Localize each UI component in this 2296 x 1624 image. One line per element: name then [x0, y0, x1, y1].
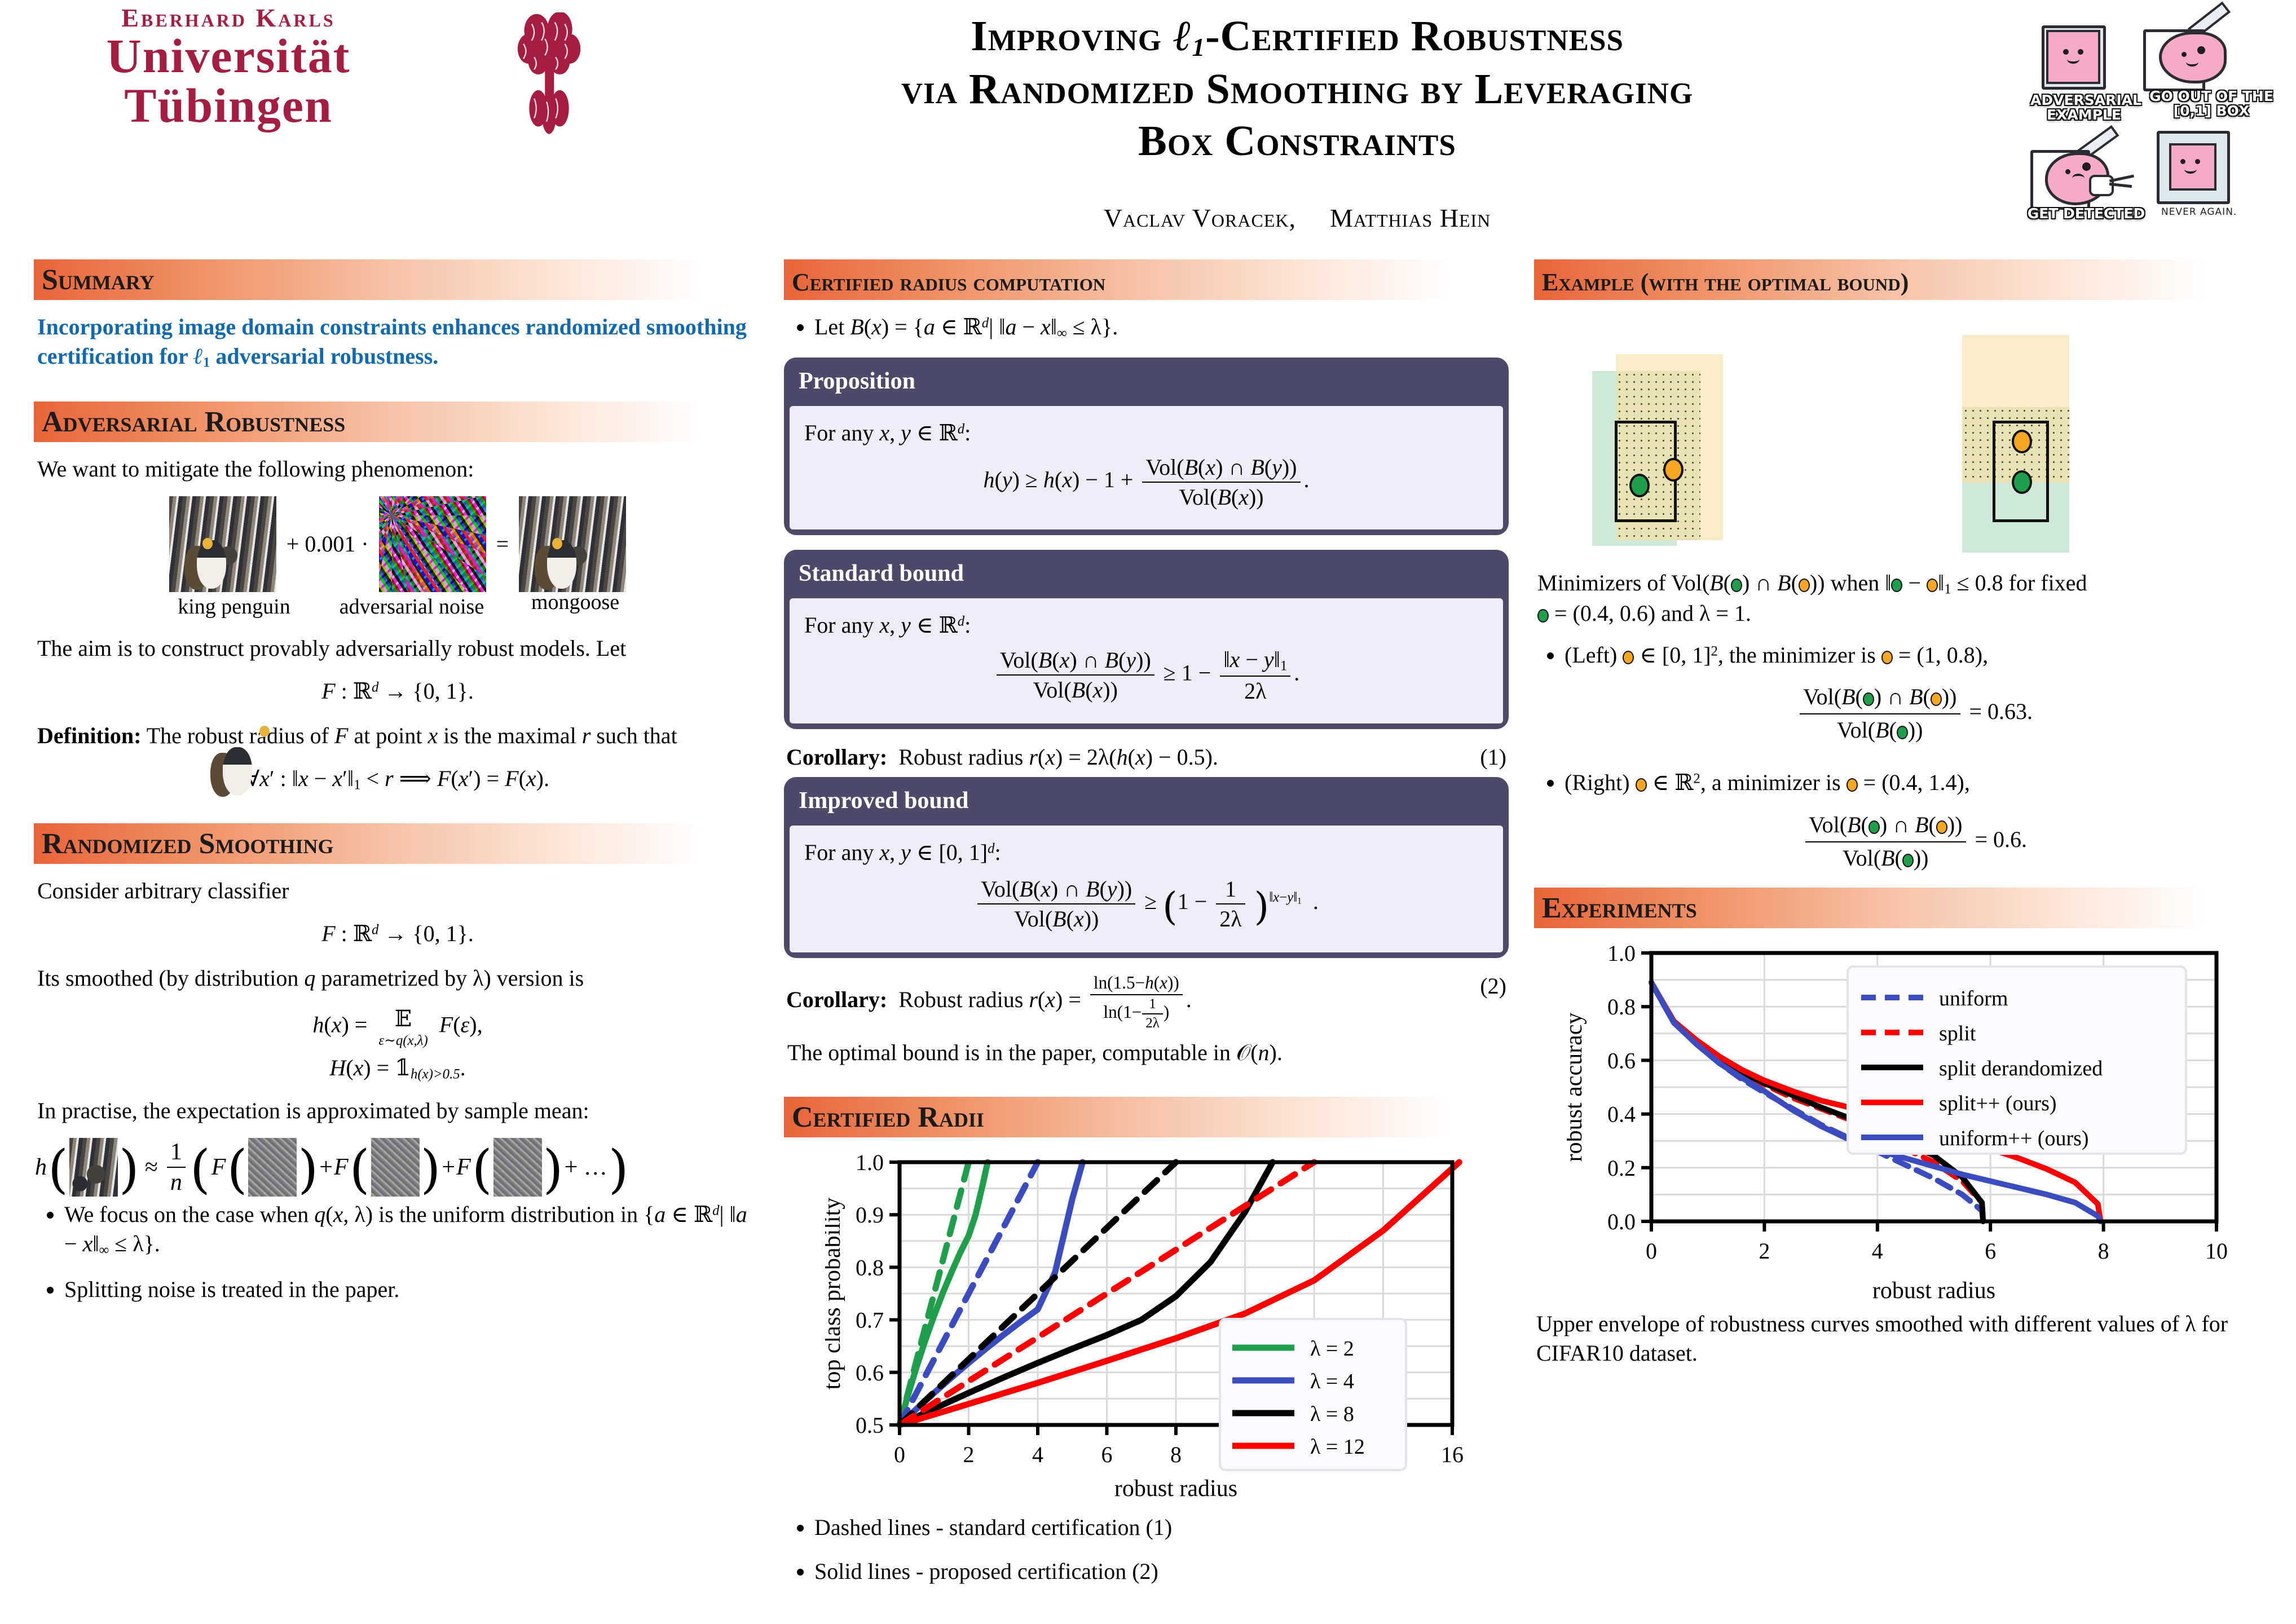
author-2: Matthias Hein [1330, 204, 1491, 232]
x-axis-label: robust radius [1872, 1278, 1995, 1301]
image-mongoose [519, 496, 626, 592]
example-panel-right [1919, 317, 2213, 554]
y-tick-label: 0.2 [1607, 1155, 1636, 1181]
theorem-box-proposition: Proposition For any x, y ∈ ℝd: h(y) ≥ h(… [784, 358, 1509, 535]
equation-classifier-2: F : ℝd → {0, 1}. [34, 920, 761, 947]
y-axis-label: top class probability [825, 1197, 845, 1389]
left-ratio-value: = 0.63. [1969, 699, 2033, 724]
title-line-2: via Randomized Smoothing by Leveraging [598, 63, 1997, 116]
meme-comic: ADVERSARIAL EXAMPLE GO OUT OF THE [0,1] … [2030, 6, 2290, 242]
section-header-experiments: Experiments [1534, 888, 2264, 928]
section-header-example: Example (with the optimal bound) [1534, 259, 2264, 300]
corollary-1-label: Corollary: [786, 744, 887, 770]
title-line-3: Box Constraints [598, 115, 1997, 167]
y-tick-label: 0.9 [856, 1202, 884, 1228]
bullet-splitting-noise: Splitting noise is treated in the paper. [64, 1275, 761, 1305]
x-tick-label: 6 [1101, 1442, 1112, 1467]
mean-frac-num: 1 [167, 1138, 186, 1168]
poster-title: Improving ℓ1-Certified Robustness via Ra… [598, 10, 1997, 167]
y-tick-label: 0.8 [1607, 995, 1636, 1020]
mean-approx-symbol: ≈ [140, 1154, 162, 1181]
section-title-summary: Summary [42, 263, 155, 297]
improved-bound-equation: Vol(B(x) ∩ B(y))Vol(B(x)) ≥ (1 − 12λ )‖x… [804, 876, 1488, 932]
legend-label-3: λ = 12 [1310, 1435, 1365, 1459]
comic-caption-1: ADVERSARIAL EXAMPLE [2030, 93, 2138, 122]
equation-robust-radius-def: ∀x′ : ‖x − x′‖1 < r ⟹ F(x′) = F(x). [34, 765, 761, 793]
caption-adversarial-noise: adversarial noise [319, 594, 505, 619]
adversarial-intro: We want to mitigate the following phenom… [37, 454, 758, 484]
mini-image-penguin [69, 1138, 118, 1197]
bullet-ball-definition: Let B(x) = {a ∈ ℝd| ‖a − x‖∞ ≤ λ}. [814, 312, 1509, 343]
mean-frac-den: n [167, 1168, 186, 1196]
x-tick-label: 8 [2097, 1238, 2109, 1264]
x-axis-label: robust radius [1114, 1476, 1237, 1499]
x-tick-label: 10 [2205, 1238, 2228, 1264]
optimal-bound-note: The optimal bound is in the paper, compu… [787, 1038, 1505, 1067]
author-1: Vaclav Voracek, [1104, 204, 1296, 232]
corollary-1-tag: (1) [1480, 744, 1506, 770]
section-header-certified-radius-computation: Certified radius computation [784, 259, 1509, 300]
equation-sample-mean: h () ≈ 1n ( F() + F() + F() + … ) [35, 1138, 761, 1197]
x-tick-label: 0 [1646, 1238, 1657, 1264]
legend-label-2: λ = 8 [1310, 1402, 1354, 1426]
bullet-left-case: (Left) ∈ [0, 1]2, the minimizer is = (1,… [1565, 641, 2264, 745]
comic-caption-2: GO OUT OF THE [0,1] BOX [2135, 89, 2288, 118]
image-adversarial-noise [379, 496, 486, 592]
legend-label-0: uniform [1939, 987, 2008, 1010]
university-logo: Eberhard Karls Universität Tübingen [31, 5, 426, 131]
comic-caption-3: GET DETECTED [2027, 206, 2145, 221]
x-tick-label: 16 [1441, 1442, 1464, 1467]
equation-classifier-1: F : ℝd → {0, 1}. [34, 678, 761, 704]
bullet-dashed-lines: Dashed lines - standard certification (1… [814, 1513, 1509, 1543]
section-header-certified-radii: Certified Radii [784, 1097, 1509, 1137]
section-header-summary: Summary [34, 259, 761, 300]
experiments-caption: Upper envelope of robustness curves smoo… [1536, 1309, 2262, 1368]
university-line-1: Eberhard Karls [31, 5, 426, 32]
improved-bound-body: For any x, y ∈ [0, 1]d: Vol(B(x) ∩ B(y))… [790, 826, 1503, 952]
improved-bound-forany: For any x, y ∈ [0, 1]d: [804, 839, 1488, 866]
legend-label-1: split [1939, 1022, 1976, 1045]
y-axis-label: robust accuracy [1567, 1013, 1587, 1162]
legend-label-3: split++ (ours) [1939, 1092, 2057, 1115]
section-title-certified-radius-computation: Certified radius computation [792, 268, 1105, 297]
standard-bound-body: For any x, y ∈ ℝd: Vol(B(x) ∩ B(y))Vol(B… [790, 598, 1503, 723]
smoothing-bullets: We focus on the case when q(x, λ) is the… [34, 1200, 761, 1305]
mini-image-noisy-3 [493, 1138, 542, 1197]
chart-exp-svg: 02468100.00.20.40.60.81.0robust radiusro… [1567, 941, 2232, 1301]
x-tick-label: 2 [963, 1442, 974, 1467]
y-tick-label: 1.0 [856, 1150, 884, 1175]
example-bullets: (Left) ∈ [0, 1]2, the minimizer is = (1,… [1534, 641, 2264, 873]
column-middle: Certified radius computation Let B(x) = … [784, 259, 1509, 1601]
x-tick-label: 8 [1170, 1442, 1182, 1467]
mean-h-symbol: h [35, 1154, 47, 1181]
section-title-certified-radii: Certified Radii [792, 1101, 984, 1134]
x-tick-label: 4 [1032, 1442, 1043, 1467]
radius-bullets: Let B(x) = {a ∈ ℝd| ‖a − x‖∞ ≤ λ}. [784, 312, 1509, 343]
image-king-penguin [169, 496, 276, 592]
y-tick-label: 0.5 [856, 1413, 884, 1438]
y-tick-label: 0.6 [1607, 1048, 1636, 1074]
title-line-1: Improving ℓ1-Certified Robustness [598, 10, 1997, 63]
y-tick-label: 0.0 [1607, 1209, 1636, 1234]
corollary-2: Corollary: Robust radius r(x) = ln(1.5−h… [786, 973, 1506, 1031]
column-left: Summary Incorporating image domain const… [34, 259, 761, 1319]
bullet-uniform-distribution: We focus on the case when q(x, λ) is the… [64, 1200, 761, 1260]
adversarial-example-figure: + 0.001 · = [34, 496, 761, 592]
mean-dots: + … [565, 1154, 607, 1181]
bullet-solid-lines: Solid lines - proposed certification (2) [814, 1557, 1509, 1587]
corollary-1: Corollary: Robust radius r(x) = 2λ(h(x) … [786, 744, 1506, 770]
x-tick-label: 4 [1871, 1238, 1883, 1264]
column-right: Example (with the optimal bound) [1534, 259, 2264, 1368]
section-title-adversarial-robustness: Adversarial Robustness [42, 405, 345, 439]
mini-image-noisy-2 [371, 1138, 420, 1197]
y-tick-label: 1.0 [1607, 941, 1636, 966]
proposition-forany: For any x, y ∈ ℝd: [804, 420, 1488, 446]
radii-legend-bullets: Dashed lines - standard certification (1… [784, 1513, 1509, 1587]
proposition-title: Proposition [784, 358, 1509, 406]
y-tick-label: 0.4 [1607, 1102, 1636, 1127]
corollary-2-label: Corollary: [786, 987, 887, 1012]
theorem-box-improved-bound: Improved bound For any x, y ∈ [0, 1]d: V… [784, 777, 1509, 958]
example-figure [1534, 317, 2264, 554]
x-tick-label: 2 [1759, 1238, 1770, 1264]
legend-label-0: λ = 2 [1310, 1337, 1354, 1361]
tuebingen-tree-icon [508, 12, 592, 136]
legend-label-1: λ = 4 [1310, 1370, 1354, 1393]
section-title-randomized-smoothing: Randomized Smoothing [42, 827, 333, 860]
caption-king-penguin: king penguin [149, 594, 319, 619]
smoothed-version-text: Its smoothed (by distribution q parametr… [37, 964, 758, 993]
x-tick-label: 6 [1985, 1238, 1996, 1264]
y-tick-label: 0.8 [856, 1255, 884, 1280]
smoothing-intro: Consider arbitrary classifier [37, 876, 758, 906]
example-panel-left [1587, 317, 1880, 554]
section-header-adversarial-robustness: Adversarial Robustness [34, 401, 761, 442]
y-tick-label: 0.7 [856, 1307, 884, 1332]
practise-text: In practise, the expectation is approxim… [37, 1096, 758, 1126]
legend-label-2: split derandomized [1939, 1057, 2103, 1080]
author-list: Vaclav Voracek,Matthias Hein [598, 203, 1997, 233]
section-title-example: Example (with the optimal bound) [1542, 268, 1909, 297]
y-tick-label: 0.6 [856, 1360, 884, 1385]
figure-captions: king penguin adversarial noise mongoose [34, 594, 761, 619]
equation-left-ratio: Vol(B() ∩ B())Vol(B()) = 0.63. [1565, 682, 2264, 745]
x-tick-label: 0 [894, 1442, 905, 1467]
theorem-box-standard-bound: Standard bound For any x, y ∈ ℝd: Vol(B(… [784, 550, 1509, 729]
right-ratio-value: = 0.6. [1975, 827, 2028, 852]
section-title-experiments: Experiments [1542, 892, 1697, 925]
summary-text: Incorporating image domain constraints e… [37, 312, 758, 372]
operator-equals: = [488, 531, 517, 557]
poster-root: Eberhard Karls Universität Tübingen Impr… [0, 0, 2296, 1624]
comic-caption-4: NEVER AGAIN. [2161, 206, 2263, 218]
example-intro: Minimizers of Vol(B() ∩ B()) when ‖ − ‖1… [1537, 568, 2261, 628]
standard-bound-title: Standard bound [784, 550, 1509, 598]
improved-bound-title: Improved bound [784, 777, 1509, 826]
definition-text: Definition: The robust radius of F at po… [37, 721, 758, 751]
university-line-2: Universität [31, 32, 426, 80]
bullet-right-case: (Right) ∈ ℝ2, a minimizer is = (0.4, 1.4… [1565, 768, 2264, 873]
section-header-randomized-smoothing: Randomized Smoothing [34, 823, 761, 864]
standard-bound-forany: For any x, y ∈ ℝd: [804, 612, 1488, 638]
proposition-equation: h(y) ≥ h(x) − 1 + Vol(B(x) ∩ B(y))Vol(B(… [804, 454, 1488, 510]
legend-label-4: uniform++ (ours) [1939, 1127, 2089, 1150]
chart-experiments: 02468100.00.20.40.60.81.0robust radiusro… [1567, 941, 2232, 1301]
equation-right-ratio: Vol(B() ∩ B())Vol(B()) = 0.6. [1565, 810, 2264, 873]
chart-radii-svg: 02468101214160.50.60.70.80.91.0robust ra… [825, 1150, 1468, 1499]
equation-h-expectation: h(x) = 𝔼 ε∼q(x,λ) F(ε), [34, 1005, 761, 1049]
aim-text: The aim is to construct provably adversa… [37, 634, 758, 663]
definition-label: Definition: [37, 723, 141, 748]
university-line-3: Tübingen [31, 80, 426, 131]
chart-certified-radii: 02468101214160.50.60.70.80.91.0robust ra… [825, 1150, 1468, 1499]
caption-mongoose: mongoose [505, 590, 646, 615]
standard-bound-equation: Vol(B(x) ∩ B(y))Vol(B(x)) ≥ 1 − ‖x − y‖1… [804, 646, 1488, 704]
mini-image-noisy-1 [248, 1138, 297, 1197]
corollary-2-tag: (2) [1480, 973, 1506, 999]
equation-H-indicator: H(x) = 𝟙h(x)>0.5. [34, 1054, 761, 1082]
operator-plus-scale: + 0.001 · [279, 531, 377, 557]
proposition-body: For any x, y ∈ ℝd: h(y) ≥ h(x) − 1 + Vol… [790, 406, 1503, 529]
